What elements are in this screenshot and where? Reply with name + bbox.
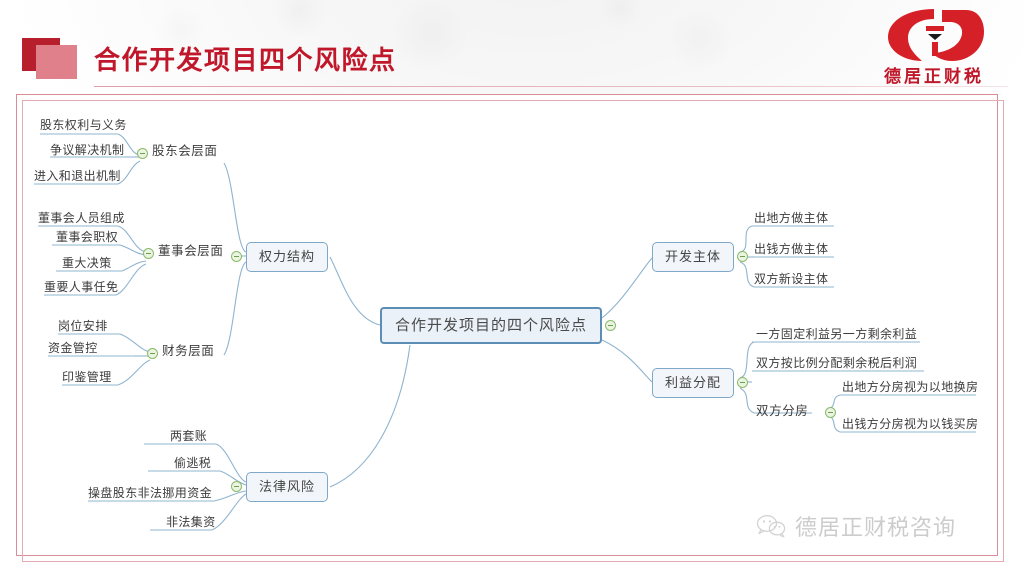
logo-mark-icon (882, 6, 986, 64)
leaf-land-provider-house-as-land-swap[interactable]: 出地方分房视为以地换房 (842, 380, 978, 396)
toggle-root[interactable] (605, 320, 616, 331)
leaf-fund-control[interactable]: 资金管控 (48, 341, 98, 357)
leaf-fixed-vs-residual-benefit[interactable]: 一方固定利益另一方剩余利益 (756, 327, 917, 343)
leaf-jointly-new-entity[interactable]: 双方新设主体 (754, 272, 828, 288)
leaf-illegal-fund-misappropriation[interactable]: 操盘股东非法挪用资金 (88, 486, 212, 502)
toggle-profit-distribution[interactable] (737, 377, 748, 388)
leaf-fund-provider-house-as-purchase[interactable]: 出钱方分房视为以钱买房 (842, 417, 978, 433)
toggle-house-split[interactable] (825, 407, 836, 418)
leaf-shareholder-rights[interactable]: 股东权利与义务 (40, 118, 127, 134)
leaf-seal-management[interactable]: 印鉴管理 (62, 370, 112, 386)
subbranch-shareholder-meeting[interactable]: 股东会层面 (152, 143, 218, 159)
page-title: 合作开发项目四个风险点 (94, 40, 397, 77)
branch-node-development-subject[interactable]: 开发主体 (652, 242, 734, 272)
toggle-power-structure[interactable] (231, 251, 242, 262)
leaf-board-composition[interactable]: 董事会人员组成 (38, 211, 125, 227)
logo-text: 德居正财税 (870, 62, 998, 87)
leaf-board-authority[interactable]: 董事会职权 (56, 230, 118, 246)
mindmap-root-node[interactable]: 合作开发项目的四个风险点 (380, 307, 602, 344)
leaf-fund-provider-as-subject[interactable]: 出钱方做主体 (754, 242, 828, 258)
wechat-icon (756, 514, 786, 538)
subbranch-board-level[interactable]: 董事会层面 (158, 243, 224, 259)
leaf-position-arrangement[interactable]: 岗位安排 (58, 319, 108, 335)
leaf-two-sets-of-books[interactable]: 两套账 (170, 429, 207, 445)
leaf-entry-exit-mechanism[interactable]: 进入和退出机制 (34, 169, 121, 185)
leaf-dispute-resolution[interactable]: 争议解决机制 (50, 143, 124, 159)
branch-node-legal-risk[interactable]: 法律风险 (246, 472, 328, 502)
toggle-shareholder-meeting[interactable] (137, 148, 148, 159)
slide-canvas: 合作开发项目四个风险点 德居正财税 (0, 0, 1024, 578)
toggle-development-subject[interactable] (737, 251, 748, 262)
watermark-text: 德居正财税咨询 (795, 510, 956, 542)
leaf-key-personnel-appointment[interactable]: 重要人事任免 (44, 280, 118, 296)
subbranch-finance-level[interactable]: 财务层面 (162, 343, 214, 359)
toggle-finance-level[interactable] (147, 348, 158, 359)
leaf-illegal-fundraising[interactable]: 非法集资 (166, 515, 216, 531)
leaf-major-decisions[interactable]: 重大决策 (62, 256, 112, 272)
title-decoration (22, 38, 84, 80)
brand-logo: 德居正财税 (870, 6, 998, 92)
subbranch-house-split[interactable]: 双方分房 (756, 403, 808, 419)
leaf-tax-evasion[interactable]: 偷逃税 (174, 456, 211, 472)
branch-node-power-structure[interactable]: 权力结构 (246, 242, 328, 272)
watermark: 德居正财税咨询 (756, 510, 956, 542)
leaf-land-provider-as-subject[interactable]: 出地方做主体 (754, 211, 828, 227)
leaf-proportional-after-tax-profit[interactable]: 双方按比例分配剩余税后利润 (756, 356, 917, 372)
decoration-square-light (36, 45, 77, 79)
branch-node-profit-distribution[interactable]: 利益分配 (652, 368, 734, 398)
toggle-legal-risk[interactable] (231, 481, 242, 492)
toggle-board-level[interactable] (143, 248, 154, 259)
